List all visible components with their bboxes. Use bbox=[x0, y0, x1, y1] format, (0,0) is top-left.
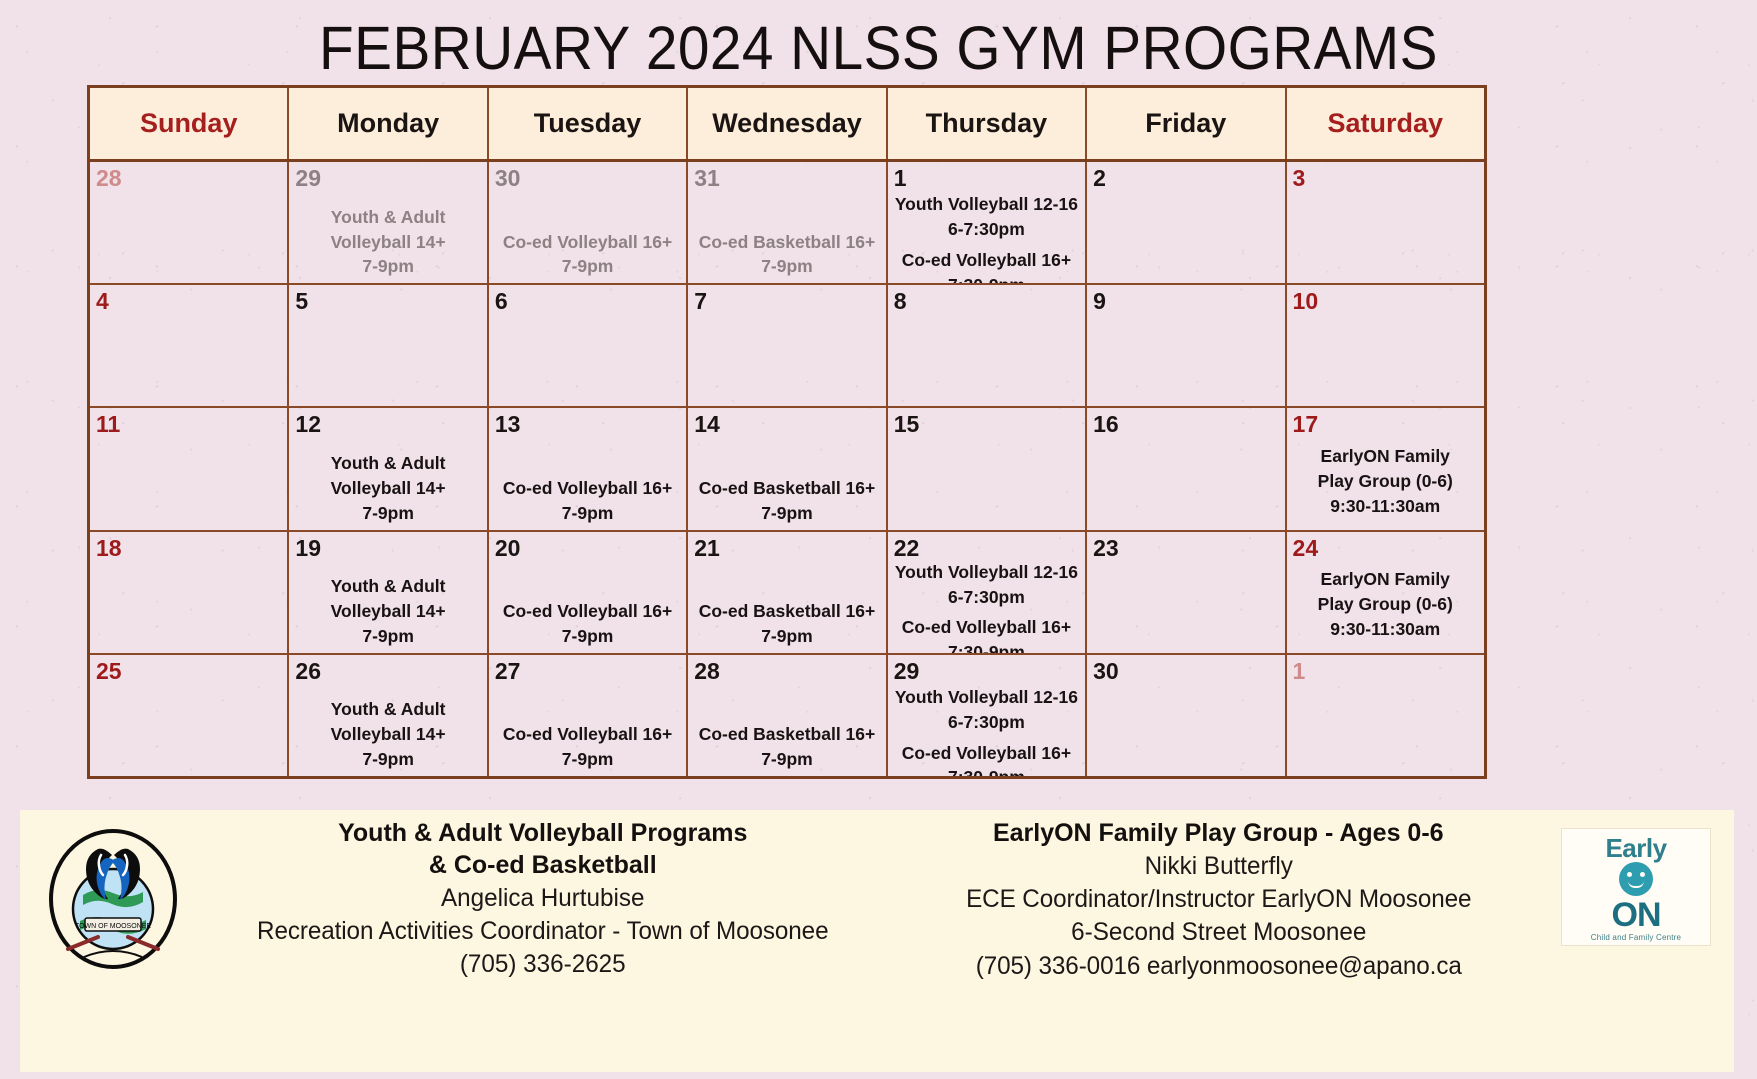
event-block: Co-ed Volleyball 16+7:30-9pm bbox=[902, 741, 1071, 776]
earlyon-logo-early-text: Early bbox=[1605, 836, 1666, 861]
day-cell-5[interactable]: 5 bbox=[289, 285, 488, 406]
day-cell-27[interactable]: 27Co-ed Volleyball 16+7-9pm bbox=[489, 655, 688, 776]
event-line: 7:30-9pm bbox=[902, 273, 1071, 284]
day-events bbox=[495, 313, 680, 404]
calendar-weeks: 2829Youth & AdultVolleyball 14+7-9pm30Co… bbox=[90, 162, 1484, 776]
event-line: Youth & Adult bbox=[331, 574, 446, 599]
event-block: Co-ed Volleyball 16+7-9pm bbox=[503, 722, 672, 772]
event-block: Co-ed Volleyball 16+7:30-9pm bbox=[902, 248, 1071, 283]
event-line: 9:30-11:30am bbox=[1318, 617, 1453, 642]
right-contact-phone-email[interactable]: (705) 336-0016 earlyonmoosonee@apano.ca bbox=[891, 950, 1546, 983]
earlyon-logo-on-text: ON bbox=[1612, 899, 1661, 931]
day-number: 18 bbox=[96, 536, 281, 560]
day-events: Youth & AdultVolleyball 14+7-9pm bbox=[295, 683, 480, 774]
day-cell-29[interactable]: 29Youth & AdultVolleyball 14+7-9pm bbox=[289, 162, 488, 283]
day-number: 1 bbox=[894, 166, 1079, 190]
day-cell-8[interactable]: 8 bbox=[888, 285, 1087, 406]
day-number: 31 bbox=[694, 166, 879, 190]
event-line: 9:30-11:30am bbox=[1318, 494, 1453, 519]
day-events: Youth & AdultVolleyball 14+7-9pm bbox=[295, 437, 480, 528]
event-line: Co-ed Volleyball 16+ bbox=[902, 741, 1071, 766]
day-number: 5 bbox=[295, 289, 480, 313]
day-cell-18[interactable]: 18 bbox=[90, 532, 289, 653]
day-cell-31[interactable]: 31Co-ed Basketball 16+7-9pm bbox=[688, 162, 887, 283]
event-block: Youth & AdultVolleyball 14+7-9pm bbox=[331, 451, 446, 526]
day-events: Co-ed Volleyball 16+7-9pm bbox=[495, 437, 680, 528]
day-number: 1 bbox=[1293, 659, 1478, 683]
day-cell-16[interactable]: 16 bbox=[1087, 408, 1286, 529]
calendar-week-row: 1112Youth & AdultVolleyball 14+7-9pm13Co… bbox=[90, 408, 1484, 531]
weekday-header-friday: Friday bbox=[1087, 88, 1286, 159]
event-line: Co-ed Volleyball 16+ bbox=[503, 230, 672, 255]
day-number: 22 bbox=[894, 536, 1079, 560]
day-number: 24 bbox=[1293, 536, 1478, 560]
day-events: Youth Volleyball 12-166-7:30pmCo-ed Voll… bbox=[894, 560, 1079, 653]
day-number: 4 bbox=[96, 289, 281, 313]
day-number: 29 bbox=[295, 166, 480, 190]
day-cell-20[interactable]: 20Co-ed Volleyball 16+7-9pm bbox=[489, 532, 688, 653]
day-events bbox=[96, 313, 281, 404]
day-cell-1[interactable]: 1Youth Volleyball 12-166-7:30pmCo-ed Vol… bbox=[888, 162, 1087, 283]
day-events: Co-ed Basketball 16+7-9pm bbox=[694, 560, 879, 651]
event-block: Youth & AdultVolleyball 14+7-9pm bbox=[331, 697, 446, 772]
left-heading-line2: & Co-ed Basketball bbox=[205, 850, 881, 882]
event-line: Play Group (0-6) bbox=[1318, 469, 1453, 494]
event-block: Co-ed Basketball 16+7-9pm bbox=[699, 599, 876, 649]
day-events bbox=[694, 313, 879, 404]
day-events bbox=[1093, 560, 1278, 651]
event-line: Co-ed Basketball 16+ bbox=[699, 230, 876, 255]
day-events: Co-ed Basketball 16+7-9pm bbox=[694, 190, 879, 281]
day-number: 6 bbox=[495, 289, 680, 313]
day-events: Co-ed Volleyball 16+7-9pm bbox=[495, 560, 680, 651]
day-number: 28 bbox=[694, 659, 879, 683]
earlyon-logo-tagline: Child and Family Centre bbox=[1591, 933, 1681, 942]
day-events: Co-ed Volleyball 16+7-9pm bbox=[495, 190, 680, 281]
day-number: 21 bbox=[694, 536, 879, 560]
day-cell-28[interactable]: 28Co-ed Basketball 16+7-9pm bbox=[688, 655, 887, 776]
event-line: Co-ed Volleyball 16+ bbox=[503, 476, 672, 501]
event-line: EarlyON Family bbox=[1318, 567, 1453, 592]
day-number: 3 bbox=[1293, 166, 1478, 190]
event-block: Youth & AdultVolleyball 14+7-9pm bbox=[331, 205, 446, 280]
event-block: EarlyON FamilyPlay Group (0-6)9:30-11:30… bbox=[1318, 444, 1453, 519]
event-line: 7:30-9pm bbox=[902, 640, 1071, 653]
day-number: 12 bbox=[295, 412, 480, 436]
earlyon-smiley-icon bbox=[1619, 862, 1653, 896]
day-events: Co-ed Basketball 16+7-9pm bbox=[694, 683, 879, 774]
event-line: 7-9pm bbox=[331, 254, 446, 279]
event-line: 6-7:30pm bbox=[895, 710, 1078, 735]
town-of-moosonee-logo: TOWN OF MOOSONEE bbox=[20, 824, 205, 974]
day-cell-7[interactable]: 7 bbox=[688, 285, 887, 406]
day-number: 2 bbox=[1093, 166, 1278, 190]
weekday-header-tuesday: Tuesday bbox=[489, 88, 688, 159]
day-cell-21[interactable]: 21Co-ed Basketball 16+7-9pm bbox=[688, 532, 887, 653]
event-line: Co-ed Volleyball 16+ bbox=[902, 615, 1071, 640]
calendar-grid: SundayMondayTuesdayWednesdayThursdayFrid… bbox=[87, 85, 1487, 779]
event-line: 7-9pm bbox=[699, 501, 876, 526]
day-cell-17[interactable]: 17EarlyON FamilyPlay Group (0-6)9:30-11:… bbox=[1287, 408, 1484, 529]
event-line: Volleyball 14+ bbox=[331, 722, 446, 747]
event-block: Co-ed Basketball 16+7-9pm bbox=[699, 230, 876, 280]
day-number: 20 bbox=[495, 536, 680, 560]
weekday-header-saturday: Saturday bbox=[1287, 88, 1484, 159]
day-cell-14[interactable]: 14Co-ed Basketball 16+7-9pm bbox=[688, 408, 887, 529]
event-line: 7-9pm bbox=[331, 624, 446, 649]
poster-page: FEBRUARY 2024 NLSS GYM PROGRAMS SundayMo… bbox=[0, 0, 1757, 1079]
day-number: 9 bbox=[1093, 289, 1278, 313]
day-cell-25[interactable]: 25 bbox=[90, 655, 289, 776]
footer-contact-bar: TOWN OF MOOSONEE Youth & Adult Volleybal… bbox=[20, 810, 1734, 1072]
event-line: Volleyball 14+ bbox=[331, 599, 446, 624]
event-line: 7-9pm bbox=[699, 254, 876, 279]
day-events bbox=[1093, 683, 1278, 774]
event-line: 6-7:30pm bbox=[895, 217, 1078, 242]
left-contact-phone[interactable]: (705) 336-2625 bbox=[215, 948, 870, 981]
event-line: 7:30-9pm bbox=[902, 765, 1071, 776]
day-number: 17 bbox=[1293, 412, 1478, 436]
day-number: 28 bbox=[96, 166, 281, 190]
day-events bbox=[1093, 437, 1278, 528]
calendar-week-row: 2526Youth & AdultVolleyball 14+7-9pm27Co… bbox=[90, 655, 1484, 776]
weekday-header-row: SundayMondayTuesdayWednesdayThursdayFrid… bbox=[90, 88, 1484, 162]
day-cell-9[interactable]: 9 bbox=[1087, 285, 1286, 406]
event-line: 7-9pm bbox=[503, 624, 672, 649]
event-block: Youth Volleyball 12-166-7:30pm bbox=[895, 192, 1078, 242]
day-cell-1[interactable]: 1 bbox=[1287, 655, 1484, 776]
day-number: 7 bbox=[694, 289, 879, 313]
event-block: Co-ed Volleyball 16+7-9pm bbox=[503, 476, 672, 526]
day-cell-3[interactable]: 3 bbox=[1287, 162, 1484, 283]
day-cell-24[interactable]: 24EarlyON FamilyPlay Group (0-6)9:30-11:… bbox=[1287, 532, 1484, 653]
day-events bbox=[1093, 190, 1278, 281]
day-number: 30 bbox=[1093, 659, 1278, 683]
event-line: EarlyON Family bbox=[1318, 444, 1453, 469]
day-number: 13 bbox=[495, 412, 680, 436]
day-number: 19 bbox=[295, 536, 480, 560]
day-events bbox=[1293, 190, 1478, 281]
day-events bbox=[894, 437, 1079, 528]
day-cell-2[interactable]: 2 bbox=[1087, 162, 1286, 283]
event-line: 6-7:30pm bbox=[895, 585, 1078, 610]
day-cell-30[interactable]: 30Co-ed Volleyball 16+7-9pm bbox=[489, 162, 688, 283]
left-contact-role: Recreation Activities Coordinator - Town… bbox=[215, 915, 870, 948]
day-events: EarlyON FamilyPlay Group (0-6)9:30-11:30… bbox=[1293, 437, 1478, 528]
day-events bbox=[1093, 313, 1278, 404]
day-cell-29[interactable]: 29Youth Volleyball 12-166-7:30pmCo-ed Vo… bbox=[888, 655, 1087, 776]
event-line: 7-9pm bbox=[503, 254, 672, 279]
event-line: 7-9pm bbox=[699, 624, 876, 649]
day-events: Youth & AdultVolleyball 14+7-9pm bbox=[295, 190, 480, 281]
day-number: 29 bbox=[894, 659, 1079, 683]
day-cell-19[interactable]: 19Youth & AdultVolleyball 14+7-9pm bbox=[289, 532, 488, 653]
day-events bbox=[96, 683, 281, 774]
weekday-header-wednesday: Wednesday bbox=[688, 88, 887, 159]
day-events: Co-ed Volleyball 16+7-9pm bbox=[495, 683, 680, 774]
event-line: Volleyball 14+ bbox=[331, 476, 446, 501]
event-block: Co-ed Volleyball 16+7-9pm bbox=[503, 599, 672, 649]
event-line: Youth & Adult bbox=[331, 697, 446, 722]
day-events: Co-ed Basketball 16+7-9pm bbox=[694, 437, 879, 528]
event-line: Co-ed Basketball 16+ bbox=[699, 599, 876, 624]
day-number: 27 bbox=[495, 659, 680, 683]
day-number: 8 bbox=[894, 289, 1079, 313]
event-line: Youth Volleyball 12-16 bbox=[895, 560, 1078, 585]
left-contact-name: Angelica Hurtubise bbox=[215, 882, 870, 915]
day-cell-30[interactable]: 30 bbox=[1087, 655, 1286, 776]
event-line: 7-9pm bbox=[331, 501, 446, 526]
footer-left-column: Youth & Adult Volleyball Programs & Co-e… bbox=[205, 810, 881, 981]
weekday-header-thursday: Thursday bbox=[888, 88, 1087, 159]
day-events bbox=[96, 437, 281, 528]
day-cell-26[interactable]: 26Youth & AdultVolleyball 14+7-9pm bbox=[289, 655, 488, 776]
right-heading: EarlyON Family Play Group - Ages 0-6 bbox=[881, 818, 1557, 850]
day-cell-28[interactable]: 28 bbox=[90, 162, 289, 283]
day-events bbox=[1293, 313, 1478, 404]
day-events bbox=[1293, 683, 1478, 774]
day-number: 15 bbox=[894, 412, 1079, 436]
day-number: 23 bbox=[1093, 536, 1278, 560]
event-block: Co-ed Volleyball 16+7-9pm bbox=[503, 230, 672, 280]
event-block: Co-ed Basketball 16+7-9pm bbox=[699, 722, 876, 772]
day-number: 26 bbox=[295, 659, 480, 683]
day-events: Youth Volleyball 12-166-7:30pmCo-ed Voll… bbox=[894, 683, 1079, 776]
weekday-header-sunday: Sunday bbox=[90, 88, 289, 159]
day-number: 30 bbox=[495, 166, 680, 190]
day-number: 25 bbox=[96, 659, 281, 683]
day-cell-10[interactable]: 10 bbox=[1287, 285, 1484, 406]
event-block: Youth Volleyball 12-166-7:30pm bbox=[895, 685, 1078, 735]
svg-text:TOWN OF MOOSONEE: TOWN OF MOOSONEE bbox=[74, 923, 150, 930]
day-events: EarlyON FamilyPlay Group (0-6)9:30-11:30… bbox=[1293, 560, 1478, 651]
event-line: Co-ed Basketball 16+ bbox=[699, 476, 876, 501]
event-line: 7-9pm bbox=[503, 747, 672, 772]
right-contact-name: Nikki Butterfly bbox=[891, 850, 1546, 883]
event-line: Youth & Adult bbox=[331, 451, 446, 476]
page-title: FEBRUARY 2024 NLSS GYM PROGRAMS bbox=[61, 0, 1695, 79]
right-contact-role: ECE Coordinator/Instructor EarlyON Mooso… bbox=[891, 883, 1546, 916]
day-cell-12[interactable]: 12Youth & AdultVolleyball 14+7-9pm bbox=[289, 408, 488, 529]
event-line: Co-ed Volleyball 16+ bbox=[503, 599, 672, 624]
event-line: 7-9pm bbox=[699, 747, 876, 772]
day-number: 11 bbox=[96, 412, 281, 436]
event-line: Youth & Adult bbox=[331, 205, 446, 230]
right-contact-address: 6-Second Street Moosonee bbox=[891, 916, 1546, 949]
day-cell-13[interactable]: 13Co-ed Volleyball 16+7-9pm bbox=[489, 408, 688, 529]
day-events: Youth & AdultVolleyball 14+7-9pm bbox=[295, 560, 480, 651]
event-line: Youth Volleyball 12-16 bbox=[895, 192, 1078, 217]
day-events bbox=[894, 313, 1079, 404]
event-line: Co-ed Basketball 16+ bbox=[699, 722, 876, 747]
event-block: Youth & AdultVolleyball 14+7-9pm bbox=[331, 574, 446, 649]
event-line: Co-ed Volleyball 16+ bbox=[902, 248, 1071, 273]
day-events bbox=[96, 190, 281, 281]
day-cell-6[interactable]: 6 bbox=[489, 285, 688, 406]
event-line: Play Group (0-6) bbox=[1318, 592, 1453, 617]
event-block: Co-ed Volleyball 16+7:30-9pm bbox=[902, 615, 1071, 652]
day-cell-23[interactable]: 23 bbox=[1087, 532, 1286, 653]
event-line: Volleyball 14+ bbox=[331, 230, 446, 255]
event-block: Co-ed Basketball 16+7-9pm bbox=[699, 476, 876, 526]
day-number: 14 bbox=[694, 412, 879, 436]
calendar-week-row: 1819Youth & AdultVolleyball 14+7-9pm20Co… bbox=[90, 532, 1484, 655]
day-cell-15[interactable]: 15 bbox=[888, 408, 1087, 529]
day-events bbox=[295, 313, 480, 404]
calendar-week-row: 2829Youth & AdultVolleyball 14+7-9pm30Co… bbox=[90, 162, 1484, 285]
day-number: 10 bbox=[1293, 289, 1478, 313]
day-number: 16 bbox=[1093, 412, 1278, 436]
event-block: Youth Volleyball 12-166-7:30pm bbox=[895, 560, 1078, 610]
day-events bbox=[96, 560, 281, 651]
event-block: EarlyON FamilyPlay Group (0-6)9:30-11:30… bbox=[1318, 567, 1453, 642]
day-cell-11[interactable]: 11 bbox=[90, 408, 289, 529]
earlyon-logo: Early ON Child and Family Centre bbox=[1556, 828, 1716, 946]
footer-right-column: EarlyON Family Play Group - Ages 0-6 Nik… bbox=[881, 810, 1557, 983]
day-cell-4[interactable]: 4 bbox=[90, 285, 289, 406]
day-cell-22[interactable]: 22Youth Volleyball 12-166-7:30pmCo-ed Vo… bbox=[888, 532, 1087, 653]
calendar-week-row: 45678910 bbox=[90, 285, 1484, 408]
weekday-header-monday: Monday bbox=[289, 88, 488, 159]
event-line: 7-9pm bbox=[331, 747, 446, 772]
event-line: Co-ed Volleyball 16+ bbox=[503, 722, 672, 747]
event-line: Youth Volleyball 12-16 bbox=[895, 685, 1078, 710]
left-heading-line1: Youth & Adult Volleyball Programs bbox=[205, 818, 881, 850]
event-line: 7-9pm bbox=[503, 501, 672, 526]
day-events: Youth Volleyball 12-166-7:30pmCo-ed Voll… bbox=[894, 190, 1079, 283]
